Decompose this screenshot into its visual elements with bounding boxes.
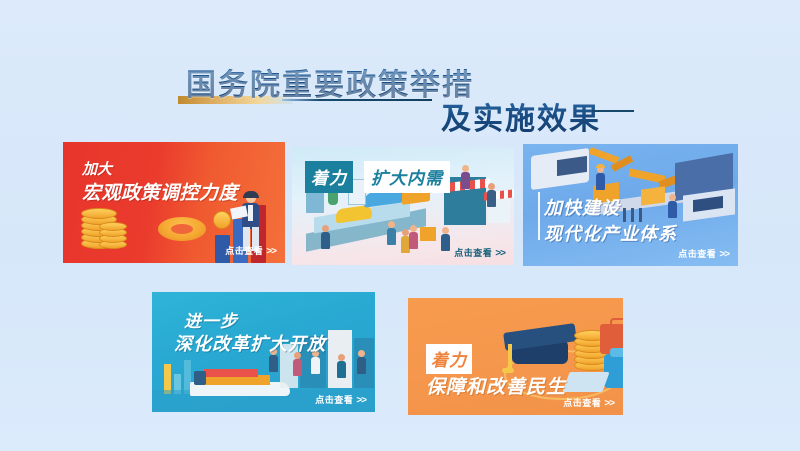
card-expand-domestic-demand-cta[interactable]: 点击查看>> xyxy=(454,246,505,259)
card-deepen-reform-opening-up-line-2: 深化改革扩大开放 xyxy=(174,330,326,356)
page-title-line-2: 及实施效果 xyxy=(441,94,601,138)
cta-label: 点击查看 xyxy=(315,395,353,405)
card-deepen-reform-opening-up-cta[interactable]: 点击查看>> xyxy=(315,393,366,406)
card-expand-domestic-demand-line-1: 着力 xyxy=(305,161,353,193)
card-macro-policy-cta[interactable]: 点击查看>> xyxy=(225,244,276,257)
card-deepen-reform-opening-up[interactable]: 进一步 深化改革扩大开放 点击查看>> xyxy=(152,292,375,412)
card-macro-policy-line-2: 宏观政策调控力度 xyxy=(82,178,238,205)
card-improve-peoples-livelihood[interactable]: 着力 保障和改善民生 点击查看>> xyxy=(408,298,623,415)
cta-label: 点击查看 xyxy=(454,248,492,258)
card-improve-peoples-livelihood-line-1: 着力 xyxy=(426,344,472,374)
title-right-rule xyxy=(592,110,634,112)
card-modern-industrial-system-line-2: 现代化产业体系 xyxy=(544,220,677,246)
card-improve-peoples-livelihood-line-2: 保障和改善民生 xyxy=(426,372,566,399)
card-modern-industrial-system-cta[interactable]: 点击查看>> xyxy=(678,247,729,260)
chevron-right-icon: >> xyxy=(356,395,366,406)
card-improve-peoples-livelihood-cta[interactable]: 点击查看>> xyxy=(563,396,614,409)
cta-label: 点击查看 xyxy=(225,246,263,256)
card-modern-industrial-system-accent-bar xyxy=(538,192,540,240)
cta-label: 点击查看 xyxy=(563,398,601,408)
chevron-right-icon: >> xyxy=(719,249,729,260)
card-expand-domestic-demand[interactable]: 着力 扩大内需 点击查看>> xyxy=(292,147,514,265)
chevron-right-icon: >> xyxy=(604,398,614,409)
chevron-right-icon: >> xyxy=(495,248,505,259)
card-macro-policy[interactable]: 加大 宏观政策调控力度 点击查看>> xyxy=(63,142,285,263)
card-deepen-reform-opening-up-line-1: 进一步 xyxy=(184,307,238,332)
page-title-line-1: 国务院重要政策举措 xyxy=(186,60,474,104)
card-macro-policy-line-1: 加大 xyxy=(82,158,112,179)
chevron-right-icon: >> xyxy=(266,246,276,257)
cta-label: 点击查看 xyxy=(678,249,716,259)
card-expand-domestic-demand-line-2: 扩大内需 xyxy=(364,161,450,193)
card-modern-industrial-system-line-1: 加快建设 xyxy=(544,194,620,220)
card-modern-industrial-system[interactable]: 加快建设 现代化产业体系 点击查看>> xyxy=(523,144,738,266)
page-title-block: 国务院重要政策举措 及实施效果 xyxy=(0,28,800,106)
